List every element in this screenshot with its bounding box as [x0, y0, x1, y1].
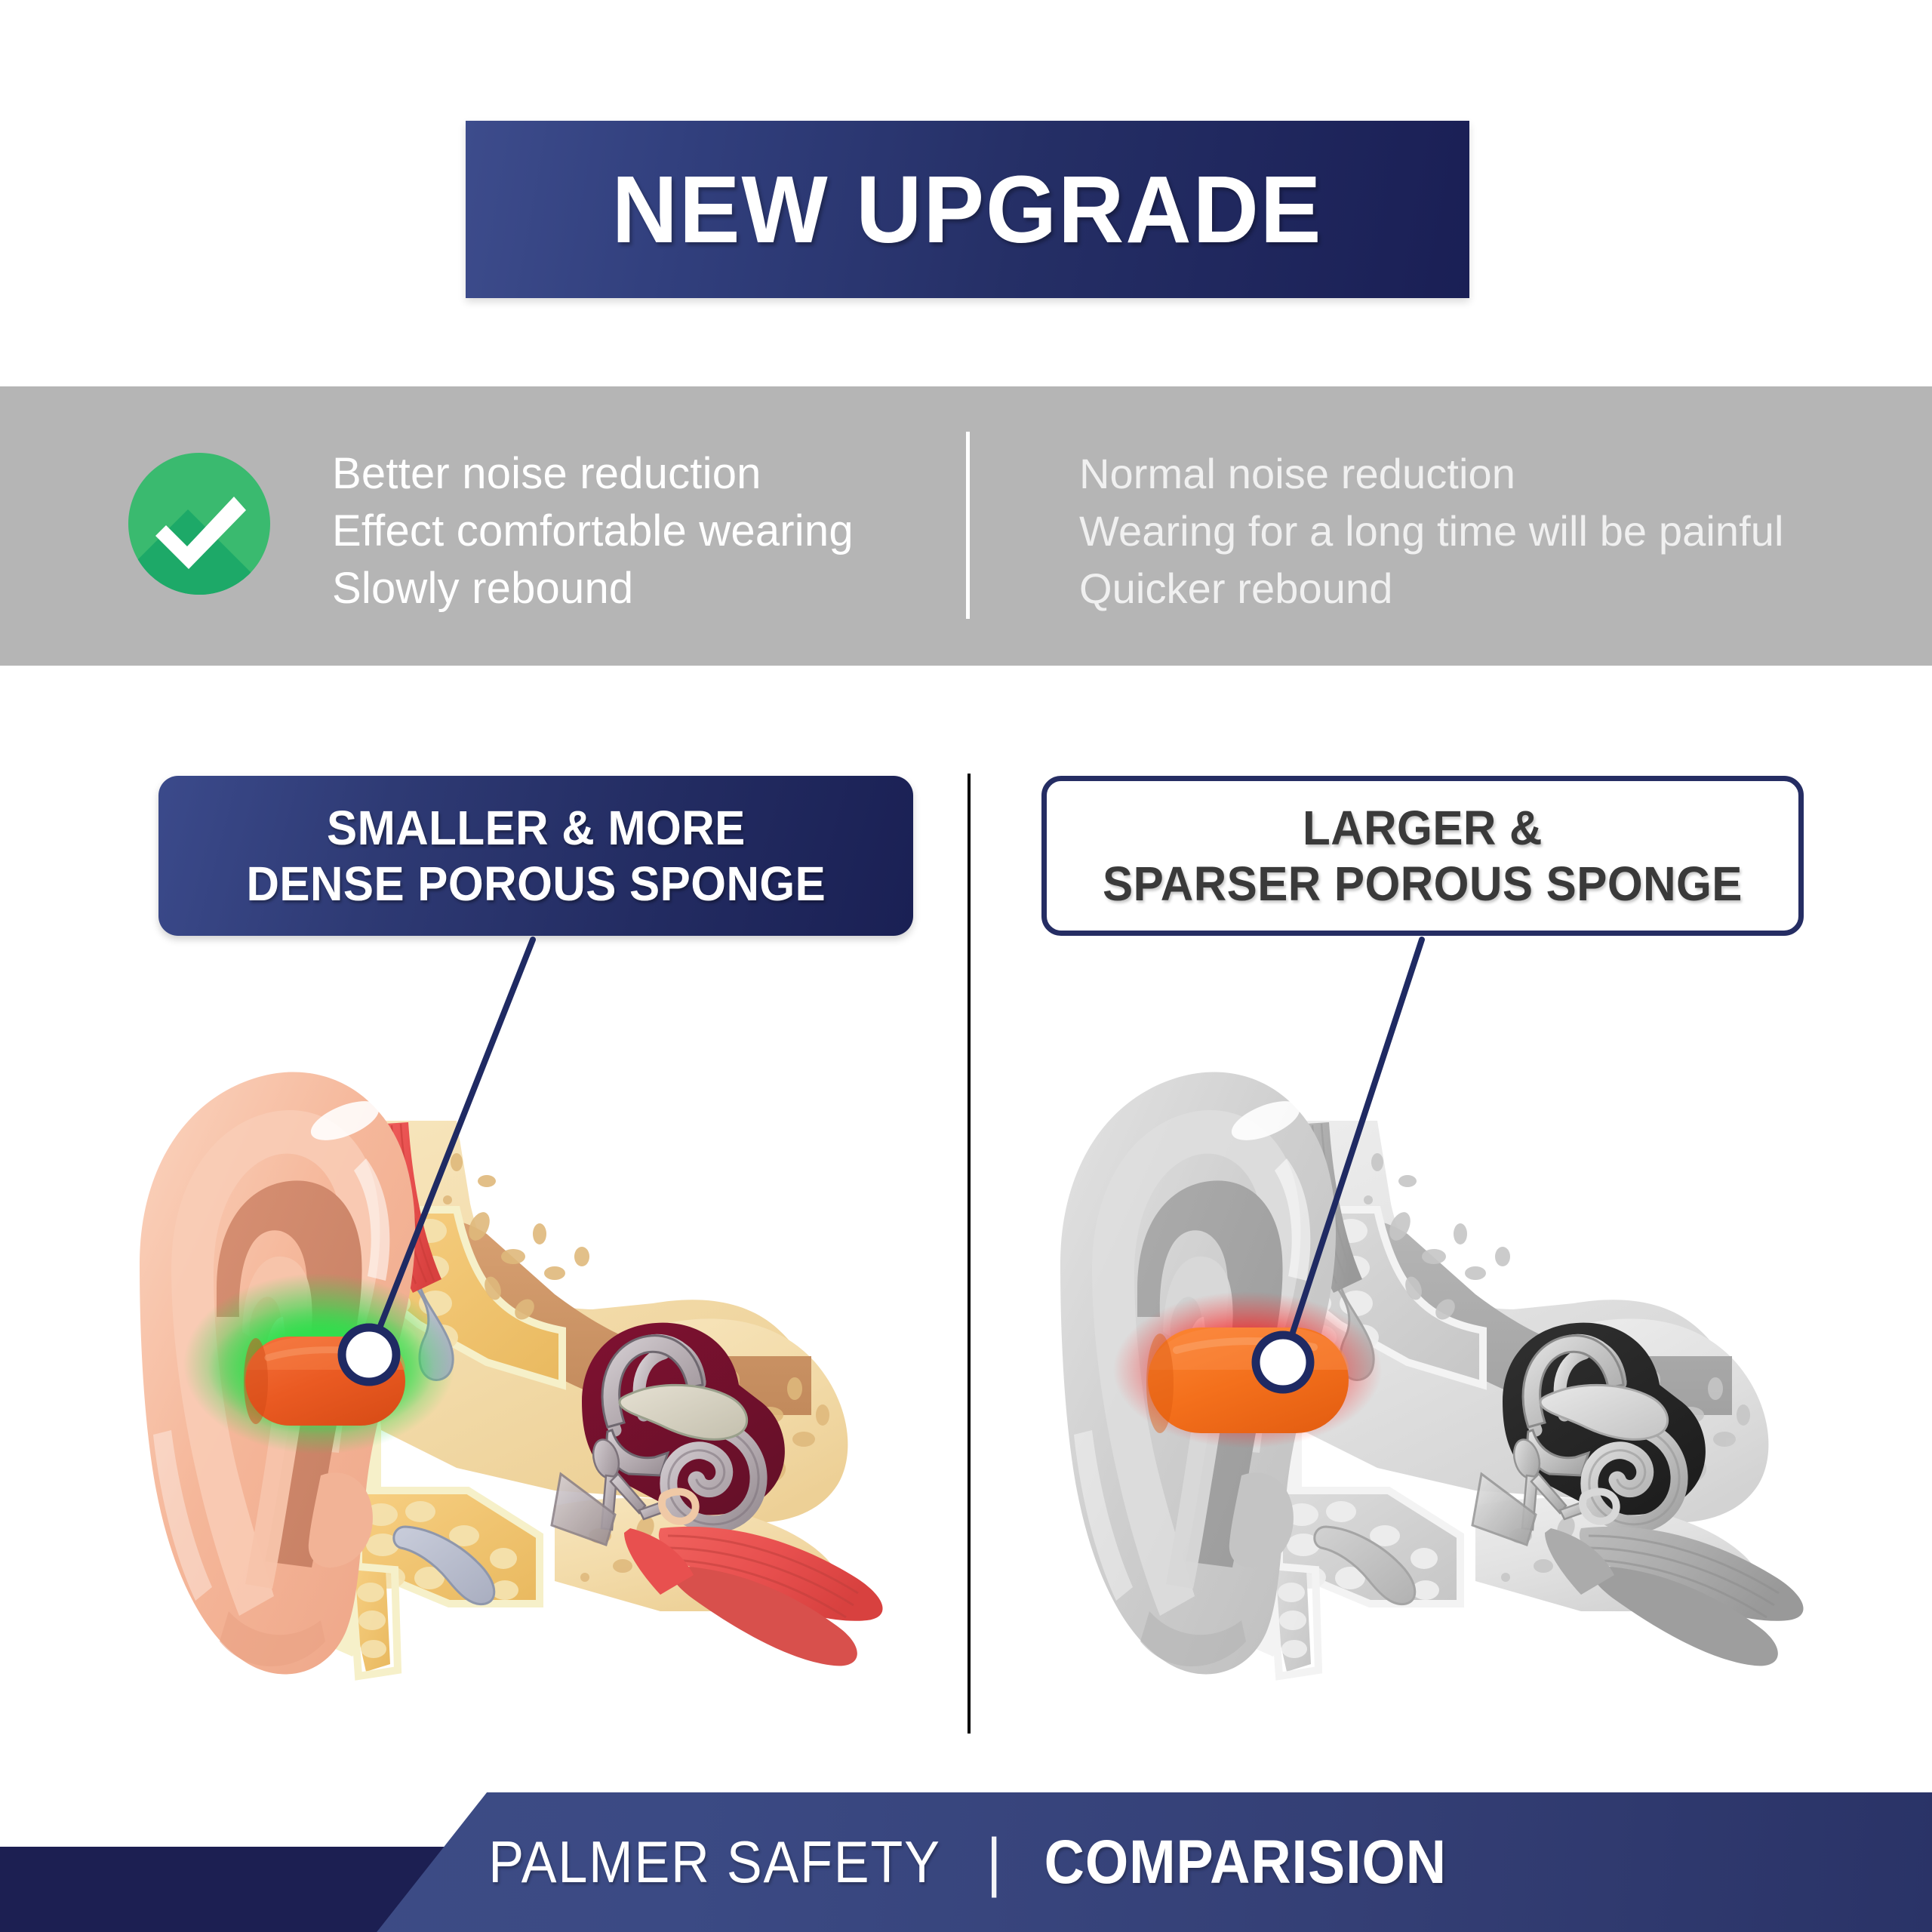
footer-separator: | [986, 1825, 1001, 1900]
ear-anatomy-diagram-right [1053, 1008, 1815, 1687]
feature-list-upgraded: Better noise reduction Effect comfortabl… [332, 445, 854, 617]
feature-item: Slowly rebound [332, 560, 854, 617]
footer-tagline: COMPARISION [1044, 1827, 1447, 1898]
feature-column-standard: Normal noise reduction Wearing for a lon… [1079, 386, 1909, 666]
page-title: NEW UPGRADE [612, 155, 1323, 264]
callout-box-right: LARGER & SPARSER POROUS SPONGE [1041, 776, 1804, 936]
feature-item: Better noise reduction [332, 445, 854, 503]
feature-item: Wearing for a long time will be painful [1079, 503, 1784, 560]
ear-anatomy-color-svg [132, 1008, 894, 1687]
feature-item: Normal noise reduction [1079, 445, 1784, 503]
feature-column-upgraded: Better noise reduction Effect comfortabl… [128, 386, 951, 666]
check-circle-icon [128, 453, 270, 595]
footer-brand: PALMER SAFETY [488, 1828, 940, 1897]
ear-anatomy-diagram-left [132, 1008, 894, 1687]
panel-divider [968, 774, 971, 1734]
feature-item: Effect comfortable wearing [332, 503, 854, 560]
ear-anatomy-grayscale-svg [1053, 1008, 1815, 1687]
feature-band-divider [966, 432, 970, 619]
header-banner: NEW UPGRADE [466, 121, 1469, 298]
callout-label-left: SMALLER & MORE DENSE POROUS SPONGE [246, 800, 826, 912]
feature-item: Quicker rebound [1079, 560, 1784, 617]
footer-content: PALMER SAFETY | COMPARISION [0, 1792, 1932, 1932]
callout-box-left: SMALLER & MORE DENSE POROUS SPONGE [158, 776, 913, 936]
infographic-page: NEW UPGRADE Better noise reduction Effec… [0, 0, 1932, 1932]
feature-list-standard: Normal noise reduction Wearing for a lon… [1079, 445, 1784, 617]
callout-label-right: LARGER & SPARSER POROUS SPONGE [1103, 800, 1743, 912]
